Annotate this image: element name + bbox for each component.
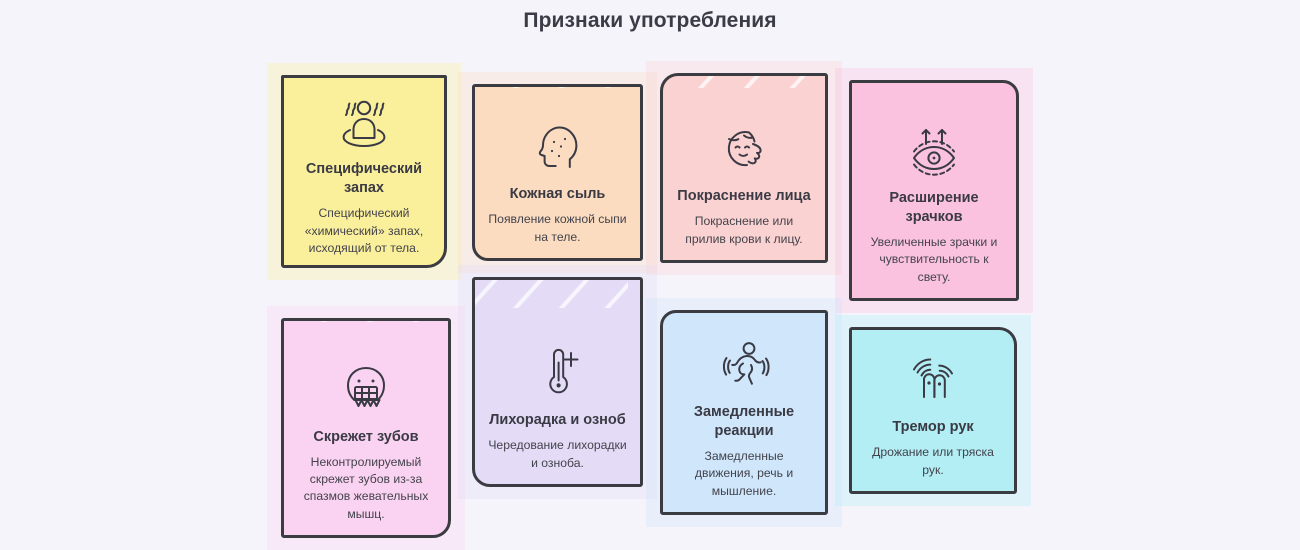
card-stripe-texture: [849, 80, 1004, 83]
card-description: Увеличенные зрачки и чувствительность к …: [864, 234, 1004, 286]
card-title: Специфический запах: [296, 160, 432, 198]
symptom-card-fever-chills[interactable]: Лихорадка и ознобЧередование лихорадки и…: [472, 277, 643, 487]
symptom-card-teeth-grinding[interactable]: Скрежет зубовНеконтролируемый скрежет зу…: [281, 318, 451, 538]
thermometer-icon: [526, 343, 590, 403]
card-description: Специфический «химический» запах, исходя…: [296, 205, 432, 257]
card-description: Замедленные движения, речь и мышление.: [675, 448, 813, 500]
symptom-card-specific-smell[interactable]: Специфический запахСпецифический «химиче…: [281, 75, 447, 268]
card-title: Расширение зрачков: [864, 189, 1004, 227]
card-stripe-texture: [660, 73, 813, 88]
signs-card-board: Специфический запахСпецифический «химиче…: [0, 0, 1300, 546]
card-description: Чередование лихорадки и озноба.: [487, 437, 628, 472]
card-description: Дрожание или тряска рук.: [864, 444, 1002, 479]
symptom-card-facial-flushing[interactable]: Покраснение лицаПокраснение или прилив к…: [660, 73, 828, 263]
card-title: Покраснение лица: [677, 187, 810, 206]
dilated-eye-icon: [902, 121, 966, 181]
symptom-card-skin-rash[interactable]: Кожная сыльПоявление кожной сыпи на теле…: [472, 84, 643, 261]
symptom-card-hand-tremor[interactable]: Тремор рукДрожание или тряска рук.: [849, 327, 1017, 494]
card-stripe-texture: [472, 84, 628, 88]
card-title: Скрежет зубов: [313, 428, 418, 447]
card-description: Появление кожной сыпи на теле.: [487, 211, 628, 246]
card-stripe-texture: [472, 277, 628, 308]
trembling-hands-icon: [901, 350, 965, 410]
symptom-card-slowed-reactions[interactable]: Замедленные реакцииЗамедленные движения,…: [660, 310, 828, 515]
card-title: Замедленные реакции: [675, 403, 813, 441]
card-description: Неконтролируемый скрежет зубов из-за спа…: [296, 454, 436, 523]
grinding-teeth-icon: [334, 360, 398, 420]
card-title: Тремор рук: [892, 418, 973, 437]
card-title: Лихорадка и озноб: [489, 411, 626, 430]
symptom-card-dilated-pupils[interactable]: Расширение зрачковУвеличенные зрачки и ч…: [849, 80, 1019, 301]
head-rash-icon: [526, 117, 590, 177]
card-title: Кожная сыль: [510, 185, 606, 204]
flushed-face-icon: [712, 119, 776, 179]
running-figure-icon: [712, 335, 776, 395]
body-odor-icon: [332, 92, 396, 152]
card-stripe-texture: [281, 318, 436, 322]
card-description: Покраснение или прилив крови к лицу.: [675, 213, 813, 248]
